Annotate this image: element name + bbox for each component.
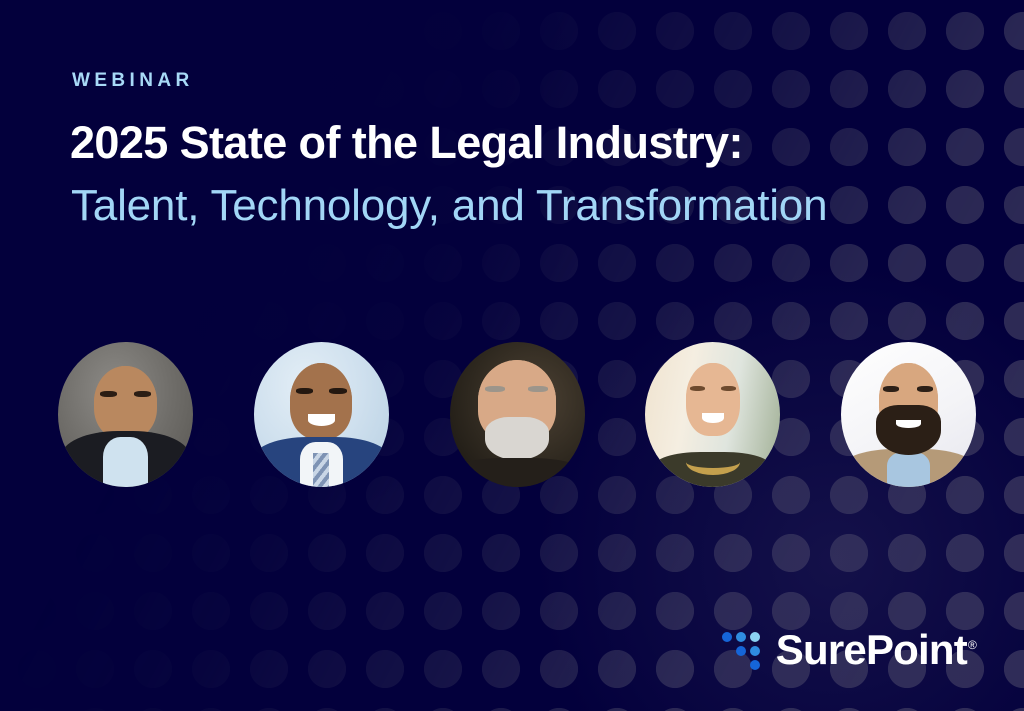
surepoint-dots-icon bbox=[722, 630, 762, 670]
page-subtitle: Talent, Technology, and Transformation bbox=[71, 180, 827, 232]
surepoint-logo[interactable]: SurePoint® bbox=[722, 629, 976, 671]
speaker-headshot-4 bbox=[645, 342, 780, 487]
webinar-promo-canvas: WEBINAR 2025 State of the Legal Industry… bbox=[0, 0, 1024, 711]
registered-trademark-icon: ® bbox=[968, 638, 976, 652]
speaker-headshot-1 bbox=[58, 342, 193, 487]
surepoint-wordmark: SurePoint® bbox=[776, 629, 976, 671]
page-title: 2025 State of the Legal Industry: bbox=[70, 117, 743, 169]
eyebrow-label: WEBINAR bbox=[72, 70, 194, 92]
surepoint-wordmark-text: SurePoint bbox=[776, 626, 967, 673]
speaker-headshot-3 bbox=[450, 342, 585, 487]
speaker-headshot-2 bbox=[254, 342, 389, 487]
speaker-headshot-5 bbox=[841, 342, 976, 487]
speaker-headshot-row bbox=[58, 341, 976, 487]
